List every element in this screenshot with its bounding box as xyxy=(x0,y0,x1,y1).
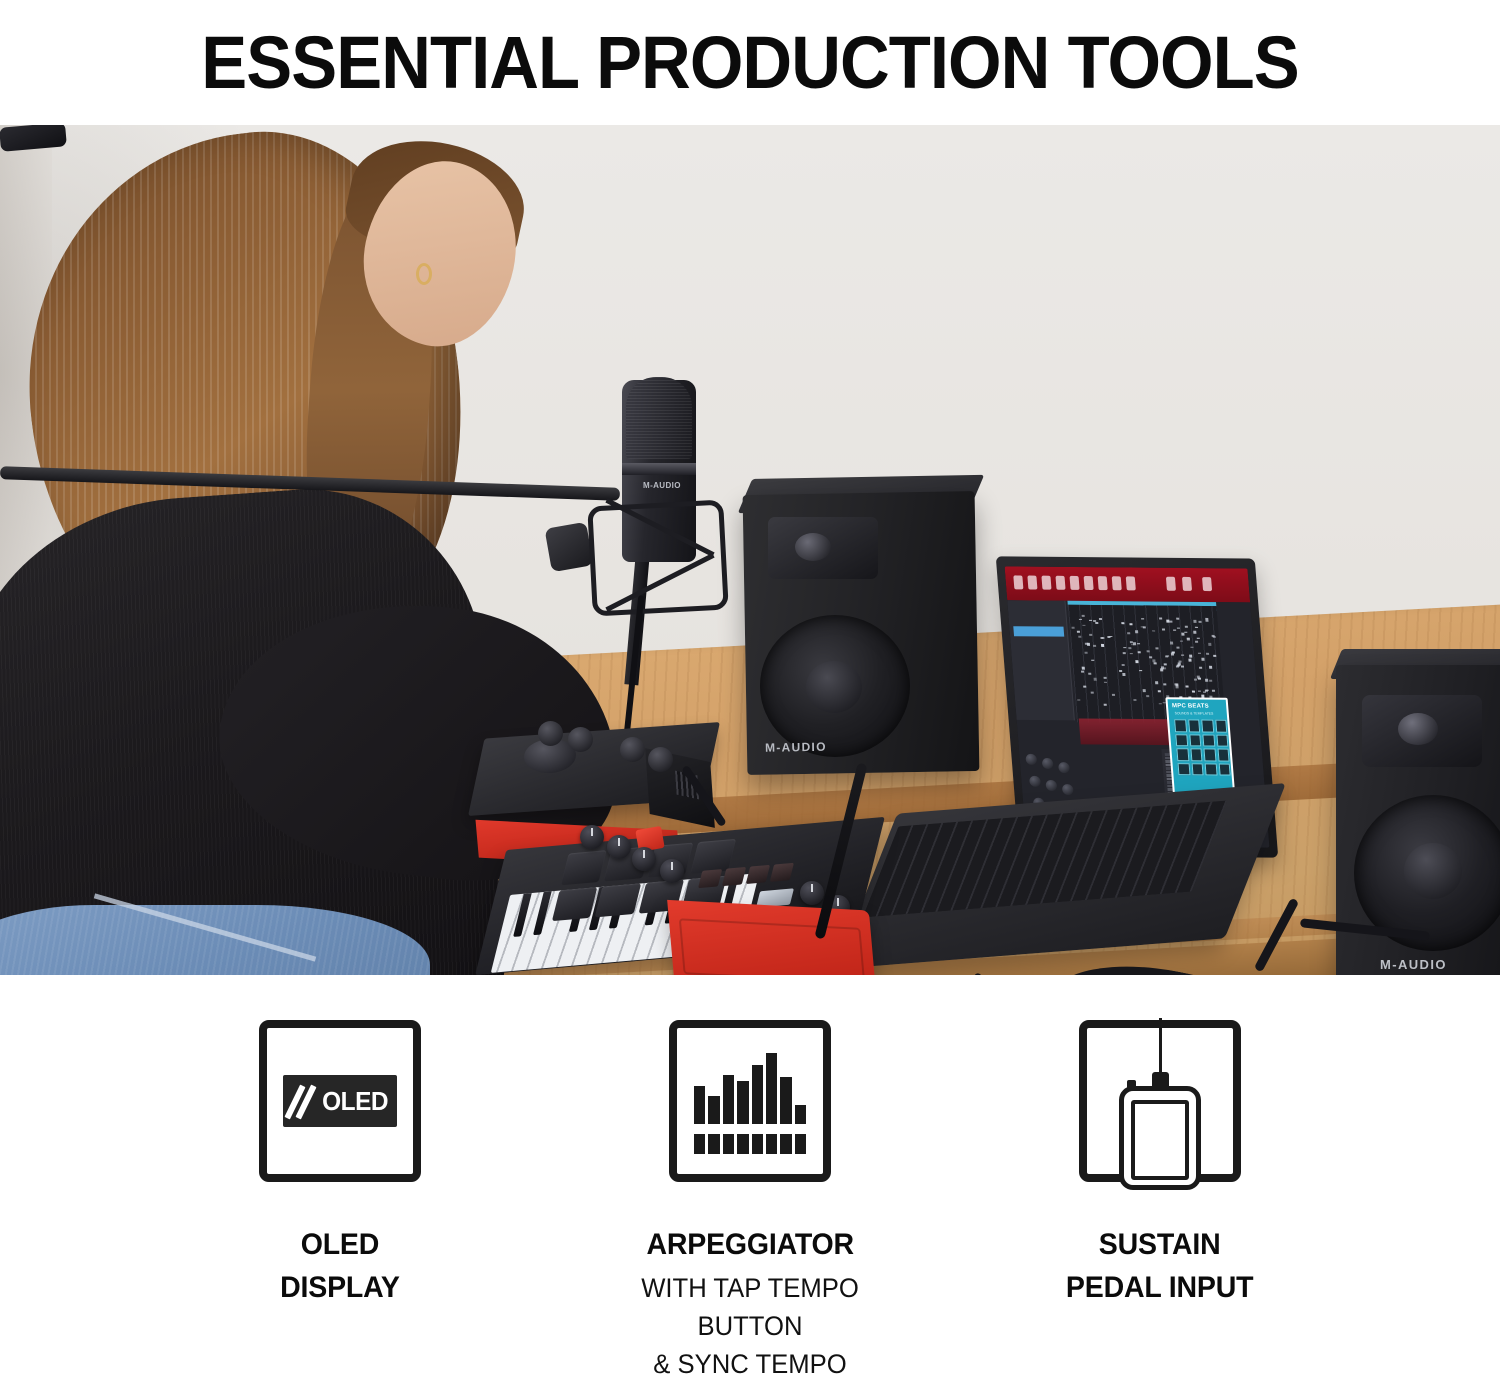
controller-front-endcap xyxy=(667,900,877,975)
earring xyxy=(416,263,432,285)
arpeggiator-bars-icon xyxy=(669,1020,831,1182)
feature-title-line2: DISPLAY xyxy=(280,1267,400,1310)
feature-title: SUSTAIN PEDAL INPUT xyxy=(1066,1224,1253,1309)
oled-badge-label: OLED xyxy=(322,1086,388,1117)
feature-title: ARPEGGIATOR xyxy=(646,1224,853,1267)
speaker-right-brand-label: M-AUDIO xyxy=(1380,957,1447,972)
audio-interface-gain-knob xyxy=(538,721,563,746)
hero-photo: M-AUDIO M-AUDIO M-AUDIO xyxy=(0,125,1500,975)
feature-sub-line1: WITH TAP TEMPO BUTTON xyxy=(593,1269,907,1346)
feature-subtitle: WITH TAP TEMPO BUTTON & SYNC TEMPO xyxy=(593,1269,907,1384)
audio-interface-gain-knob xyxy=(620,737,645,762)
controller-knob xyxy=(607,835,631,859)
sustain-pedal-icon xyxy=(1079,1020,1241,1182)
arpeggiator-bar xyxy=(723,1075,734,1124)
feature-oled-display: OLED OLED DISPLAY xyxy=(175,1020,505,1309)
feature-arpeggiator: ARPEGGIATOR WITH TAP TEMPO BUTTON & SYNC… xyxy=(585,1020,915,1384)
arpeggiator-bars xyxy=(694,1050,806,1124)
pedal-graphic xyxy=(1105,1038,1215,1164)
arpeggiator-bar xyxy=(737,1081,748,1124)
speaker-left-brand-label: M-AUDIO xyxy=(765,739,855,755)
arpeggiator-bar-chart xyxy=(694,1048,806,1154)
feature-title-line1: ARPEGGIATOR xyxy=(646,1224,853,1267)
feature-title-line1: SUSTAIN xyxy=(1066,1224,1253,1267)
controller-knob xyxy=(632,847,656,871)
daw-selected-track xyxy=(1013,626,1064,636)
daw-promo-subtitle: SOUNDS & TEMPLATES xyxy=(1174,711,1213,715)
oled-badge: OLED xyxy=(283,1075,397,1127)
arpeggiator-bar xyxy=(708,1096,719,1124)
mic-boom-joint xyxy=(544,522,593,573)
pedal-footplate xyxy=(1131,1100,1189,1180)
oled-display-icon: OLED xyxy=(259,1020,421,1182)
arpeggiator-bar xyxy=(780,1077,791,1124)
speaker-left-dust-cap xyxy=(806,661,862,713)
arpeggiator-bar xyxy=(752,1065,763,1124)
arpeggiator-bar xyxy=(694,1086,705,1124)
daw-promo-panel: MPC BEATS SOUNDS & TEMPLATES xyxy=(1165,697,1235,797)
daw-promo-title: MPC BEATS xyxy=(1172,703,1209,709)
controller-knob xyxy=(580,825,604,849)
daw-track-list xyxy=(1007,600,1075,720)
audio-interface-gain-knob xyxy=(568,727,593,752)
feature-title: OLED DISPLAY xyxy=(280,1224,400,1309)
daw-promo-tiles xyxy=(1174,719,1231,775)
microphone-ring xyxy=(622,463,696,475)
arpeggiator-step-squares xyxy=(694,1134,806,1154)
arpeggiator-bar xyxy=(795,1105,806,1124)
oled-slash-icon xyxy=(290,1084,316,1118)
feature-list: OLED OLED DISPLAY ARPEGGIATOR WITH TAP T… xyxy=(0,975,1500,1379)
controller-knob xyxy=(660,859,684,883)
feature-sustain-pedal-input: SUSTAIN PEDAL INPUT xyxy=(995,1020,1325,1309)
controller-knob xyxy=(800,881,824,905)
speaker-right-dust-cap xyxy=(1404,843,1462,899)
arpeggiator-bar xyxy=(766,1053,777,1124)
microphone-grille xyxy=(626,377,692,459)
feature-title-line2: PEDAL INPUT xyxy=(1066,1267,1253,1310)
pedal-cable-icon xyxy=(1159,1018,1162,1076)
speaker-left-tweeter xyxy=(795,533,831,561)
page-title: ESSENTIAL PRODUCTION TOOLS xyxy=(201,26,1298,100)
audio-interface-gain-knob xyxy=(648,747,673,772)
microphone-brand-label: M-AUDIO xyxy=(643,481,689,490)
page-header: ESSENTIAL PRODUCTION TOOLS xyxy=(0,0,1500,125)
feature-title-line1: OLED xyxy=(280,1224,400,1267)
daw-toolbar xyxy=(1005,566,1251,602)
feature-sub-line2: & SYNC TEMPO xyxy=(593,1345,907,1383)
speaker-right-tweeter xyxy=(1398,713,1438,745)
